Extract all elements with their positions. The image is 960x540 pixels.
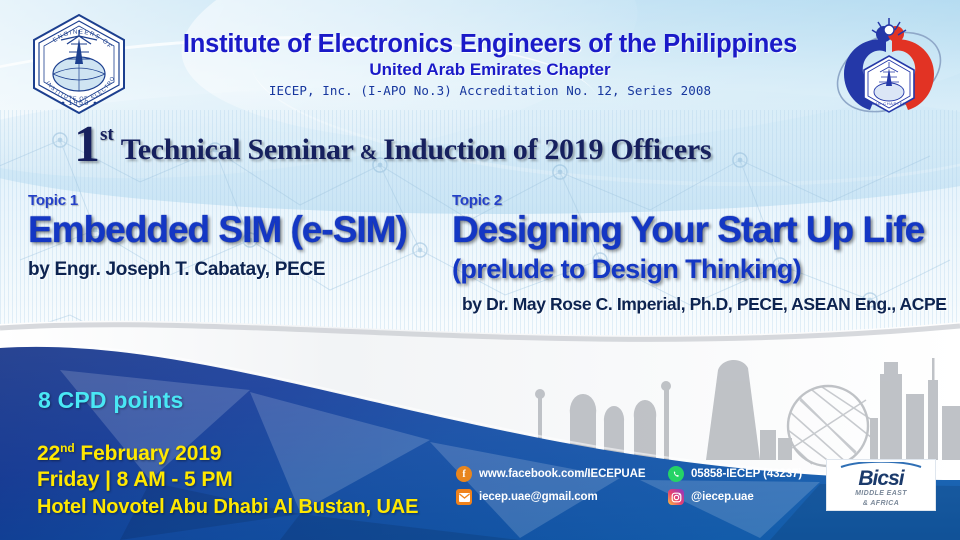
contact-group-right: 05858-IECEP (43237) @iecep.uae bbox=[668, 466, 802, 512]
email-address[interactable]: iecep.uae@gmail.com bbox=[479, 491, 598, 503]
topic-1-label: Topic 1 bbox=[28, 192, 448, 209]
organization-subtitle: United Arab Emirates Chapter bbox=[140, 60, 840, 80]
contact-group-left: f www.facebook.com/IECEPUAE iecep.uae@gm… bbox=[456, 466, 645, 512]
event-date-number: 22 bbox=[37, 442, 60, 465]
event-date: 22nd February 2019 bbox=[37, 435, 418, 467]
event-poster: ENGINEERS OF THE INSTITUTE OF ELECTRONIC… bbox=[0, 0, 960, 540]
accreditation-line: IECEP, Inc. (I-APO No.3) Accreditation N… bbox=[140, 83, 840, 98]
cpd-points: 8 CPD points bbox=[38, 387, 184, 414]
main-title-part1: Technical Seminar bbox=[121, 133, 354, 167]
main-title-ampersand: & bbox=[360, 140, 378, 165]
topic-1-speaker: by Engr. Joseph T. Cabatay, PECE bbox=[28, 259, 448, 281]
ordinal-suffix: st bbox=[100, 124, 114, 146]
email-contact[interactable]: iecep.uae@gmail.com bbox=[456, 489, 645, 505]
facebook-contact[interactable]: f www.facebook.com/IECEPUAE bbox=[456, 466, 645, 482]
topic-2-subtitle: (prelude to Design Thinking) bbox=[452, 253, 952, 285]
main-title-part2: Induction of 2019 Officers bbox=[383, 133, 711, 167]
topic-2-title: Designing Your Start Up Life bbox=[452, 209, 952, 251]
bicsi-region-line1: MIDDLE EAST bbox=[855, 490, 907, 499]
topic-2-speaker: by Dr. May Rose C. Imperial, Ph.D, PECE,… bbox=[462, 294, 952, 315]
topic-2-block: Topic 2 Designing Your Start Up Life (pr… bbox=[452, 192, 952, 315]
event-day-time: Friday | 8 AM - 5 PM bbox=[37, 467, 418, 493]
instagram-icon bbox=[668, 489, 684, 505]
whatsapp-number[interactable]: 05858-IECEP (43237) bbox=[691, 468, 802, 480]
instagram-contact[interactable]: @iecep.uae bbox=[668, 489, 802, 505]
svg-text:UAE CHAPTER: UAE CHAPTER bbox=[871, 101, 906, 106]
gmail-icon bbox=[456, 489, 472, 505]
iecep-seal-logo: ENGINEERS OF THE INSTITUTE OF ELECTRONIC… bbox=[27, 12, 131, 116]
event-venue: Hotel Novotel Abu Dhabi Al Bustan, UAE bbox=[37, 493, 418, 521]
whatsapp-icon bbox=[668, 466, 684, 482]
organization-title: Institute of Electronics Engineers of th… bbox=[140, 30, 840, 59]
topic-1-title: Embedded SIM (e-SIM) bbox=[28, 209, 448, 251]
event-date-month-year: February 2019 bbox=[75, 442, 222, 465]
event-details: 22nd February 2019 Friday | 8 AM - 5 PM … bbox=[37, 435, 418, 521]
facebook-url[interactable]: www.facebook.com/IECEPUAE bbox=[479, 468, 645, 480]
ordinal-number: 1 bbox=[74, 122, 100, 168]
topic-1-block: Topic 1 Embedded SIM (e-SIM) by Engr. Jo… bbox=[28, 192, 448, 281]
bicsi-wordmark: Bicsi bbox=[858, 469, 903, 489]
facebook-icon: f bbox=[456, 466, 472, 482]
iecep-uae-chapter-logo: UAE CHAPTER bbox=[828, 12, 950, 124]
whatsapp-contact[interactable]: 05858-IECEP (43237) bbox=[668, 466, 802, 482]
event-date-suffix: nd bbox=[60, 441, 74, 455]
seal-year: 1950 bbox=[68, 100, 90, 107]
bicsi-region-line2: & AFRICA bbox=[863, 500, 899, 509]
main-title: 1stTechnical Seminar&Induction of 2019 O… bbox=[0, 122, 960, 174]
bicsi-sponsor-logo: Bicsi MIDDLE EAST & AFRICA bbox=[826, 459, 936, 511]
instagram-handle[interactable]: @iecep.uae bbox=[691, 491, 754, 503]
topic-2-label: Topic 2 bbox=[452, 192, 952, 209]
